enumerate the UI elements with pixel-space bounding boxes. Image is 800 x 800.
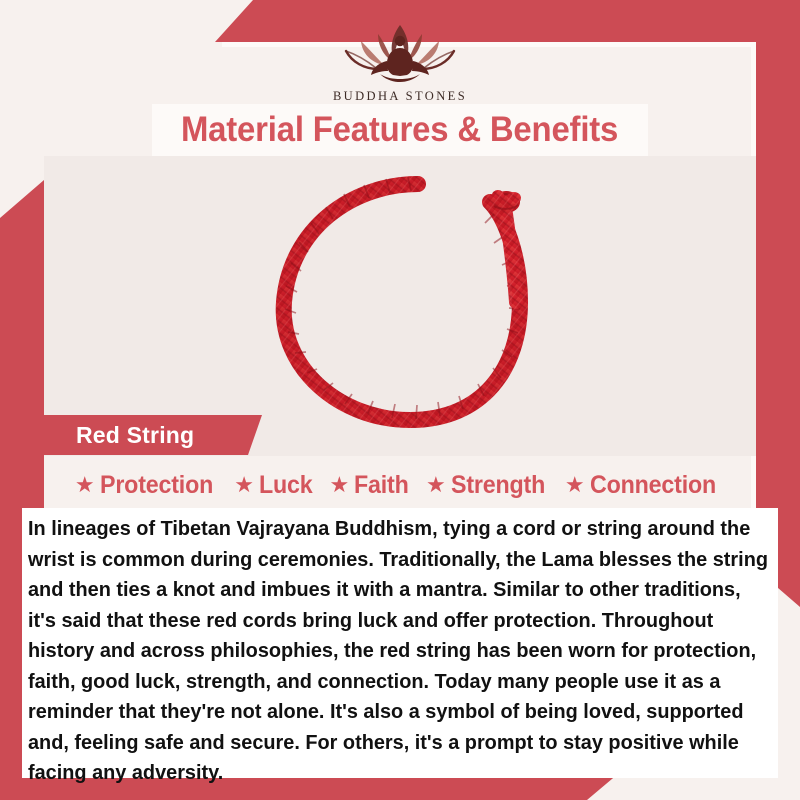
feature-label: Connection <box>590 471 716 500</box>
brand-logo: BUDDHA STONES <box>0 16 800 104</box>
brand-name: BUDDHA STONES <box>333 89 467 104</box>
feature-label: Protection <box>100 471 213 500</box>
title-banner: Material Features & Benefits <box>152 104 648 156</box>
feature-label: Luck <box>259 471 313 500</box>
description-panel: In lineages of Tibetan Vajrayana Buddhis… <box>22 508 778 778</box>
star-icon: ★ <box>234 474 254 496</box>
product-label: Red String <box>44 422 194 449</box>
star-icon: ★ <box>426 474 446 496</box>
feature-item-connection: ★ Connection <box>565 471 725 500</box>
lotus-meditation-icon <box>330 16 470 86</box>
star-icon: ★ <box>330 474 350 496</box>
product-label-ribbon: Red String <box>44 415 262 455</box>
feature-item-strength: ★ Strength <box>426 471 552 500</box>
feature-item-faith: ★ Faith <box>330 471 413 500</box>
feature-list: ★ Protection ★ Luck ★ Faith ★ Strength ★… <box>44 466 756 504</box>
infographic-page: BUDDHA STONES Material Features & Benefi… <box>0 0 800 800</box>
feature-label: Strength <box>451 471 545 500</box>
feature-item-luck: ★ Luck <box>234 471 316 500</box>
feature-item-protection: ★ Protection <box>75 471 221 500</box>
red-braided-string-bracelet <box>258 162 568 434</box>
description-text: In lineages of Tibetan Vajrayana Buddhis… <box>28 514 769 789</box>
star-icon: ★ <box>75 474 95 496</box>
feature-label: Faith <box>354 471 409 500</box>
page-title: Material Features & Benefits <box>181 110 618 150</box>
star-icon: ★ <box>565 474 585 496</box>
